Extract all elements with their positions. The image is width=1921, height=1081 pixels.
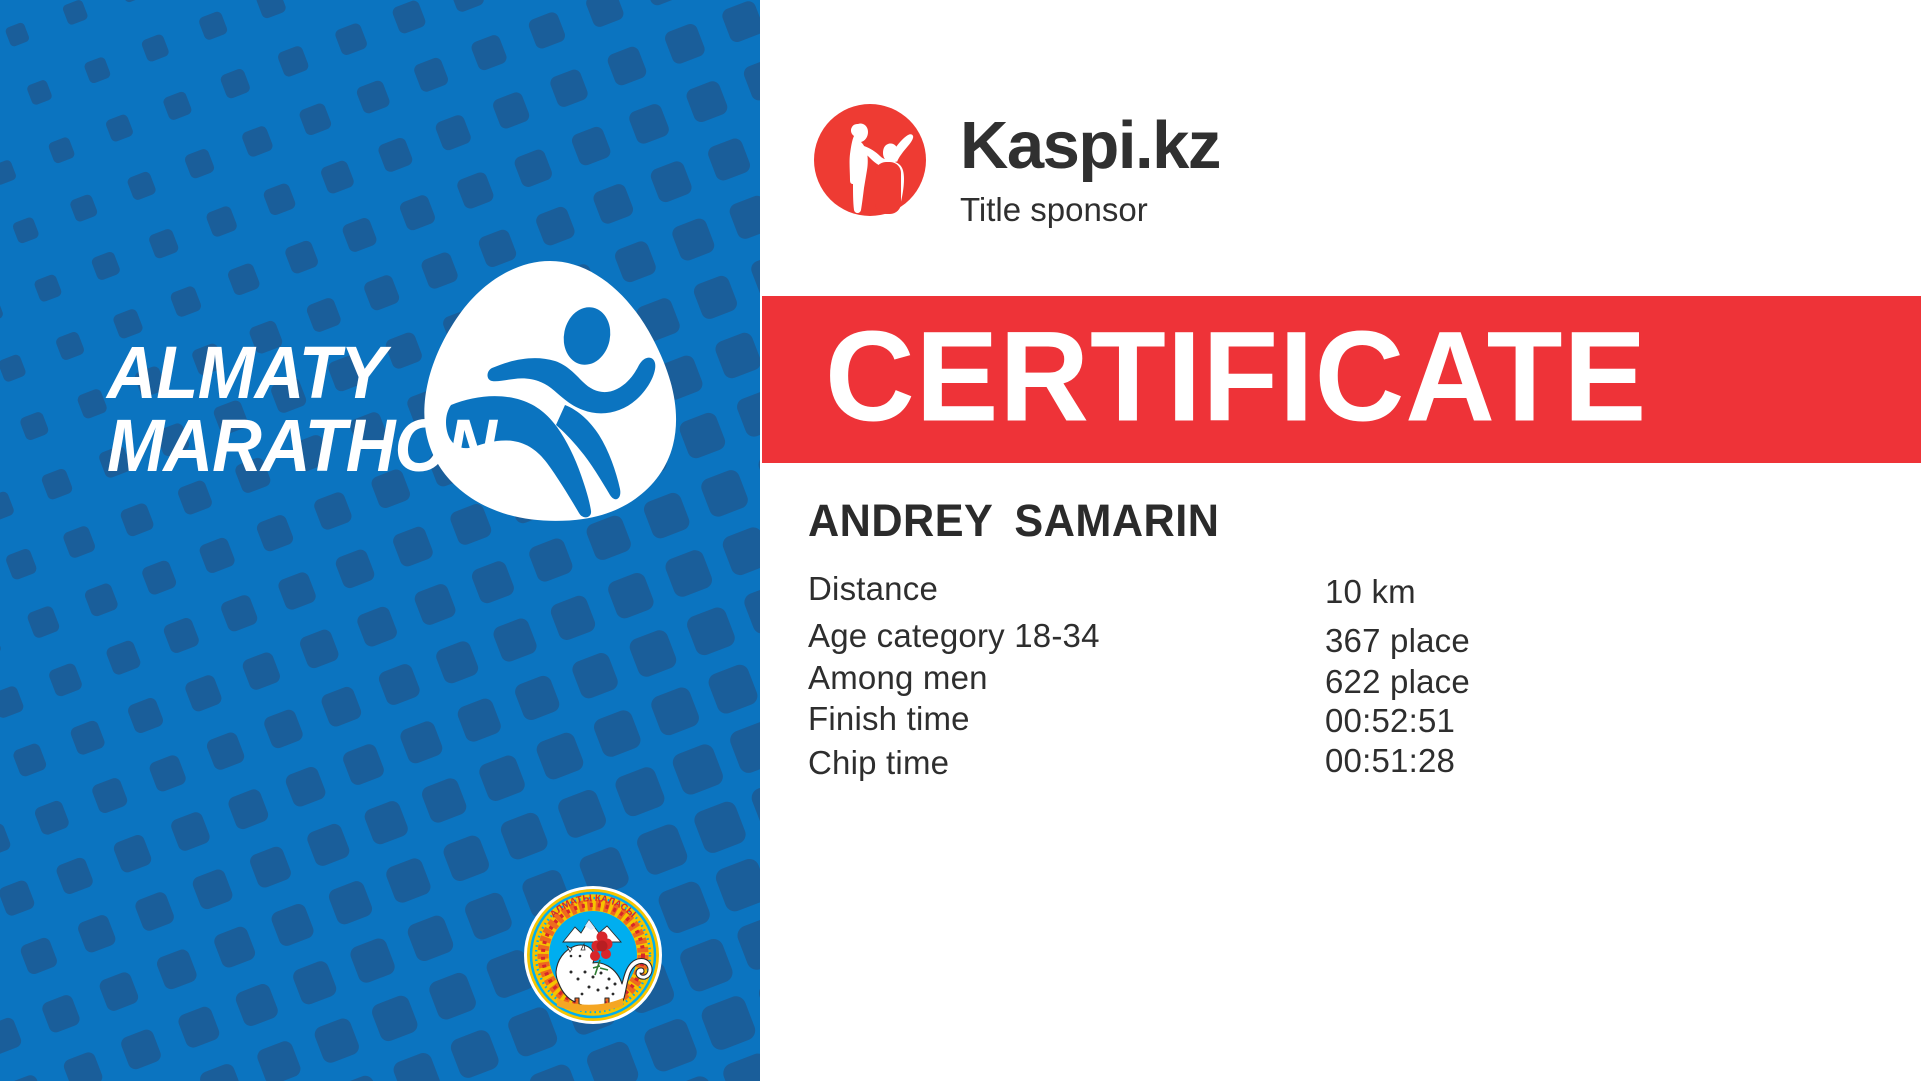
sponsor-text-block: Kaspi.kz Title sponsor (960, 100, 1220, 226)
almaty-marathon-wordmark: ALMATY MARATHON (107, 337, 498, 482)
title-sponsor-block: Kaspi.kz Title sponsor (810, 100, 1220, 226)
almaty-city-emblem-icon: АЛМАТЫ ҚАЛАСЫ (523, 880, 663, 1030)
result-value: 622 place (1325, 663, 1470, 701)
result-value: 00:52:51 (1325, 702, 1455, 740)
result-value: 10 km (1325, 573, 1416, 611)
result-label: Chip time (808, 744, 949, 782)
certificate-title: CERTIFICATE (825, 313, 1647, 441)
table-row: Age category 18-34 367 place (808, 617, 1858, 659)
result-label: Among men (808, 659, 988, 697)
athlete-last-name: SAMARIN (1014, 495, 1219, 546)
results-table: Distance 10 km Age category 18-34 367 pl… (808, 570, 1858, 783)
table-row: Distance 10 km (808, 570, 1858, 617)
kaspi-people-circle-icon (810, 100, 930, 220)
result-value: 367 place (1325, 622, 1470, 660)
sponsor-name: Kaspi.kz (960, 112, 1220, 179)
result-value: 00:51:28 (1325, 742, 1455, 780)
left-brand-panel: ALMATY MARATHON АЛМАТЫ ҚАЛАСЫ (0, 0, 760, 1081)
logo-line-almaty: ALMATY (107, 337, 498, 410)
athlete-name: ANDREYSAMARIN (808, 495, 1219, 547)
sponsor-role-label: Title sponsor (960, 193, 1220, 226)
result-label: Distance (808, 570, 938, 608)
table-row: Among men 622 place (808, 659, 1858, 700)
table-row: Chip time 00:51:28 (808, 738, 1858, 783)
almaty-marathon-logo: ALMATY MARATHON (95, 255, 695, 545)
result-label: Finish time (808, 700, 970, 738)
logo-line-marathon: MARATHON (107, 410, 498, 483)
table-row: Finish time 00:52:51 (808, 700, 1858, 738)
certificate-banner: CERTIFICATE (762, 296, 1921, 463)
certificate-card: ALMATY MARATHON АЛМАТЫ ҚАЛАСЫ (0, 0, 1921, 1081)
result-label: Age category 18-34 (808, 617, 1100, 655)
athlete-first-name: ANDREY (808, 495, 993, 546)
certificate-content: Kaspi.kz Title sponsor CERTIFICATE ANDRE… (760, 0, 1921, 1081)
